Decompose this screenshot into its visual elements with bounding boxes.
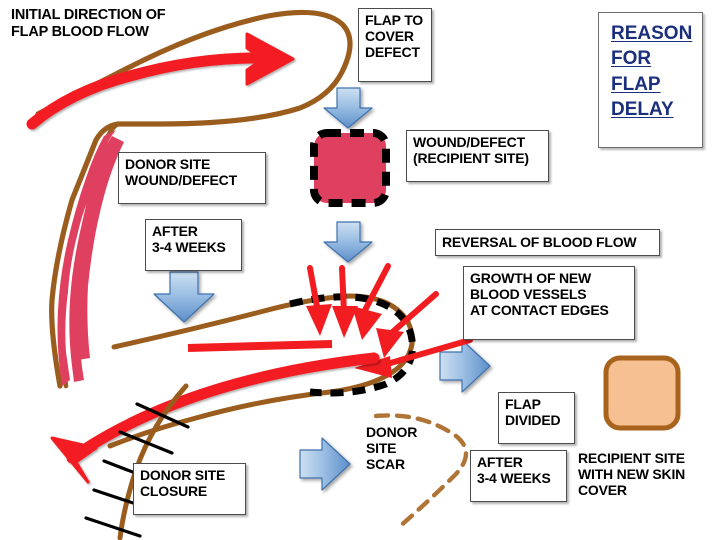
label-recipient-site-with-new-skin-cover: RECIPIENT SITE WITH NEW SKIN COVER [578,450,685,499]
title-line-1: REASON [611,21,692,46]
reversed-flow-segment [188,344,332,348]
label-flap-divided: FLAP DIVIDED [498,392,575,444]
blue-arrow-down-3 [154,272,214,322]
blue-arrow-down-2 [324,222,372,262]
blue-arrow-down-1 [324,88,372,128]
label-growth-of-new-blood-vessels: GROWTH OF NEW BLOOD VESSELS AT CONTACT E… [463,266,635,340]
title-box: REASON FOR FLAP DELAY [598,12,703,148]
title-line-4: DELAY [611,97,692,122]
label-after-3-4-weeks-lower: AFTER 3-4 WEEKS [470,450,567,502]
recipient-site-new-skin-shape [606,358,678,428]
label-donor-site-wound-defect: DONOR SITE WOUND/DEFECT [118,152,266,204]
wound-defect-shape [314,133,386,203]
label-initial-direction-of-flap-blood-flow: INITIAL DIRECTION OF FLAP BLOOD FLOW [11,7,165,41]
label-flap-to-cover-defect: FLAP TO COVER DEFECT [358,8,432,82]
title-line-3: FLAP [611,72,692,97]
label-donor-site-scar: DONOR SITE SCAR [366,424,417,473]
label-wound-defect-recipient-site: WOUND/DEFECT (RECIPIENT SITE) [406,130,549,182]
initial-blood-flow-arrow [32,34,293,124]
label-after-3-4-weeks-upper: AFTER 3-4 WEEKS [145,219,242,271]
label-reversal-of-blood-flow: REVERSAL OF BLOOD FLOW [435,229,660,256]
label-donor-site-closure: DONOR SITE CLOSURE [133,463,246,515]
title-line-2: FOR [611,46,692,71]
flap-delay-diagram: REASON FOR FLAP DELAY INITIAL DIRECTION … [0,0,720,540]
blue-arrow-right-2 [300,438,350,490]
